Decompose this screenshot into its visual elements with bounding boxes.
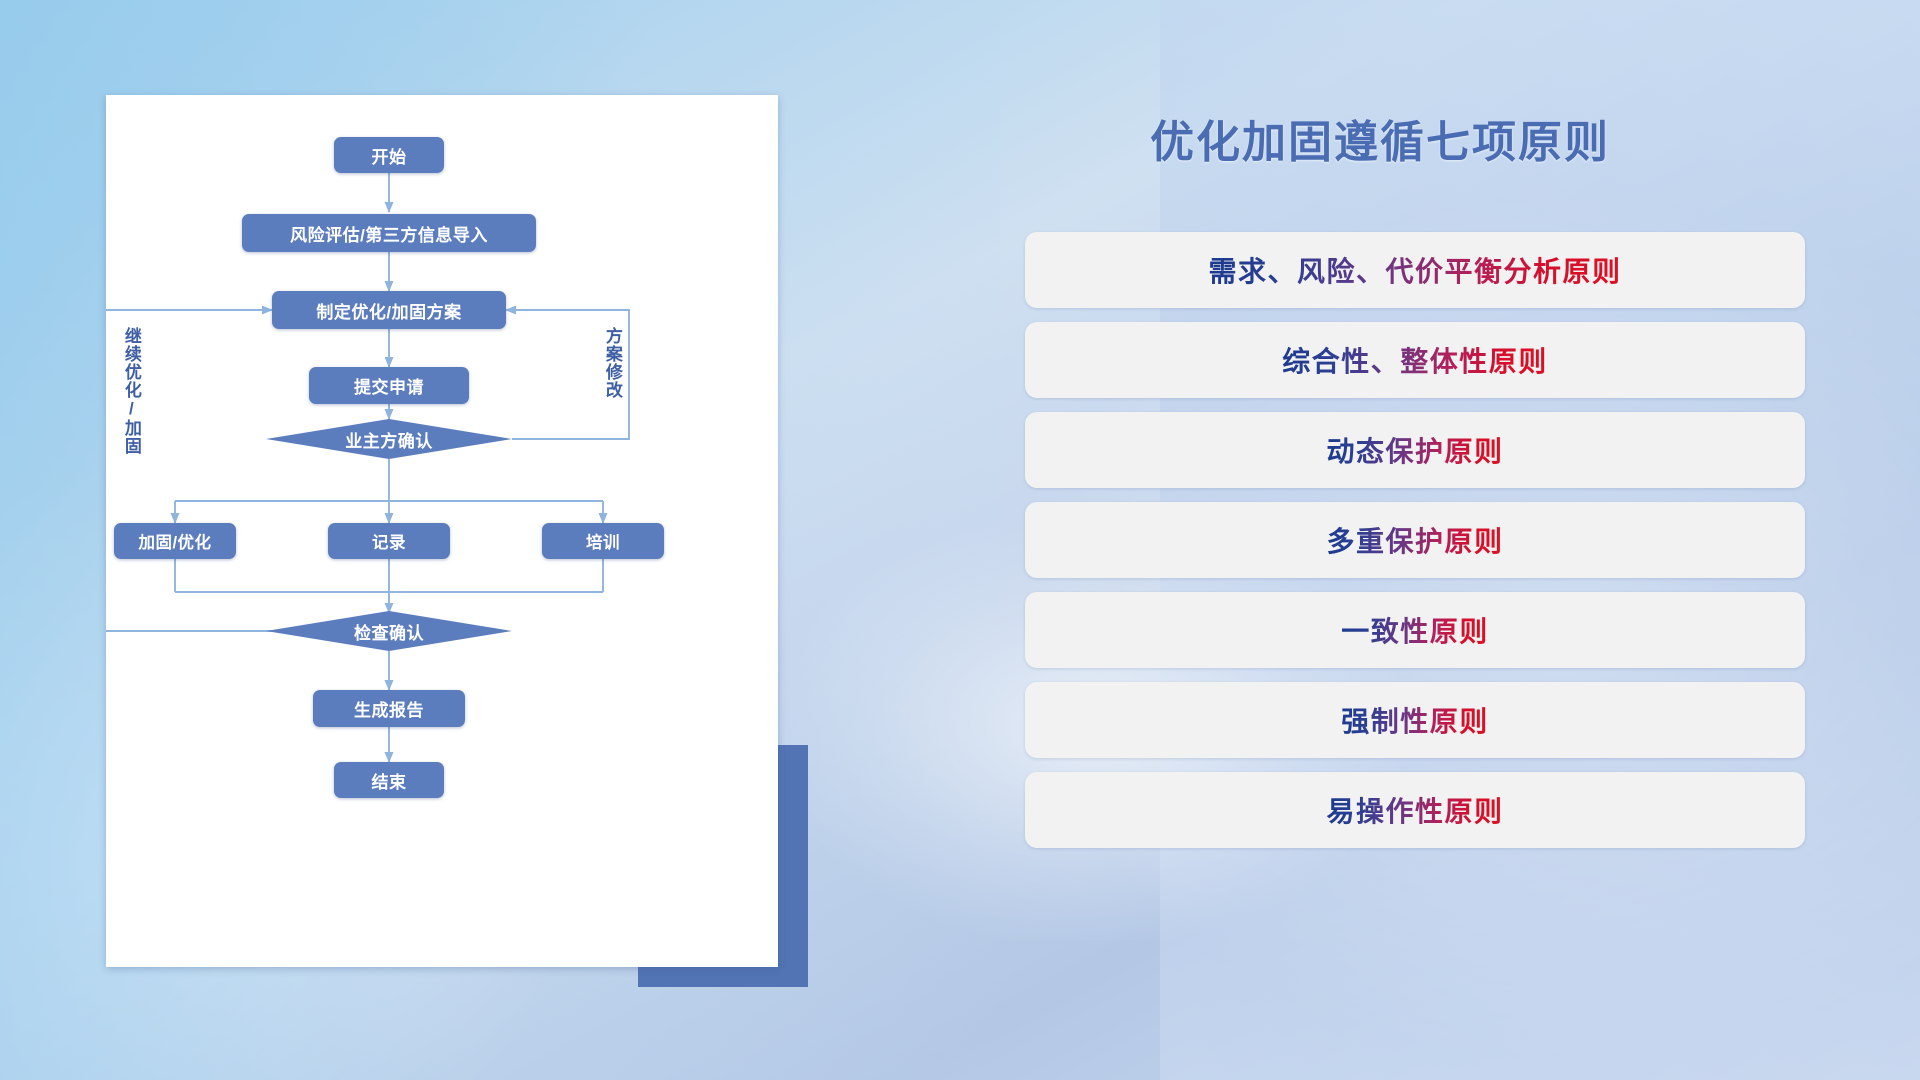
principle-card-label: 需求、风险、代价平衡分析原则 (1208, 250, 1621, 290)
principles-list: 需求、风险、代价平衡分析原则 综合性、整体性原则 动态保护原则 多重保护原则 一… (1025, 232, 1805, 862)
principle-card[interactable]: 多重保护原则 (1025, 502, 1805, 578)
principle-card[interactable]: 易操作性原则 (1025, 772, 1805, 848)
principle-card[interactable]: 需求、风险、代价平衡分析原则 (1025, 232, 1805, 308)
page-title: 优化加固遵循七项原则 (1150, 106, 1610, 170)
principle-card-label: 一致性原则 (1341, 610, 1489, 650)
flow-node-generate-report[interactable]: 生成报告 (313, 690, 465, 727)
flow-node-make-plan[interactable]: 制定优化/加固方案 (272, 291, 506, 329)
flow-node-label: 风险评估/第三方信息导入 (290, 221, 488, 246)
principle-card[interactable]: 综合性、整体性原则 (1025, 322, 1805, 398)
principle-card[interactable]: 一致性原则 (1025, 592, 1805, 668)
flow-node-label: 制定优化/加固方案 (316, 298, 461, 323)
flow-node-submit-application[interactable]: 提交申请 (309, 367, 469, 404)
flow-node-label: 生成报告 (354, 696, 424, 721)
principle-card-label: 易操作性原则 (1326, 790, 1503, 830)
flow-node-reinforce-optimize[interactable]: 加固/优化 (114, 523, 236, 559)
flow-node-training[interactable]: 培训 (542, 523, 664, 559)
flow-node-record[interactable]: 记录 (328, 523, 450, 559)
flow-node-label: 结束 (372, 768, 407, 793)
slide-canvas: 开始 风险评估/第三方信息导入 制定优化/加固方案 提交申请 业主方确认 加固/… (0, 0, 1920, 1080)
flow-node-end[interactable]: 结束 (334, 762, 444, 798)
principle-card-label: 强制性原则 (1341, 700, 1489, 740)
flowchart-canvas: 开始 风险评估/第三方信息导入 制定优化/加固方案 提交申请 业主方确认 加固/… (106, 95, 778, 967)
flow-node-start[interactable]: 开始 (334, 137, 444, 173)
flow-node-label: 培训 (586, 529, 620, 553)
edge-label-plan-revision: 方案修改 (603, 327, 621, 399)
flow-node-label: 提交申请 (354, 373, 424, 398)
flow-node-label: 加固/优化 (138, 529, 211, 553)
flow-node-risk-assessment[interactable]: 风险评估/第三方信息导入 (242, 214, 536, 252)
principle-card-label: 多重保护原则 (1326, 520, 1503, 560)
principle-card-label: 动态保护原则 (1326, 430, 1503, 470)
flow-node-check-confirm-label: 检查确认 (329, 619, 449, 643)
principle-card[interactable]: 强制性原则 (1025, 682, 1805, 758)
flow-node-owner-confirm-label: 业主方确认 (329, 427, 449, 451)
edge-label-continue-optimize: 继续优化/加固 (122, 327, 140, 455)
flowchart-panel: 开始 风险评估/第三方信息导入 制定优化/加固方案 提交申请 业主方确认 加固/… (106, 95, 778, 967)
principle-card-label: 综合性、整体性原则 (1282, 340, 1548, 380)
flow-node-label: 开始 (372, 143, 407, 168)
flow-node-label: 记录 (372, 529, 406, 553)
principle-card[interactable]: 动态保护原则 (1025, 412, 1805, 488)
